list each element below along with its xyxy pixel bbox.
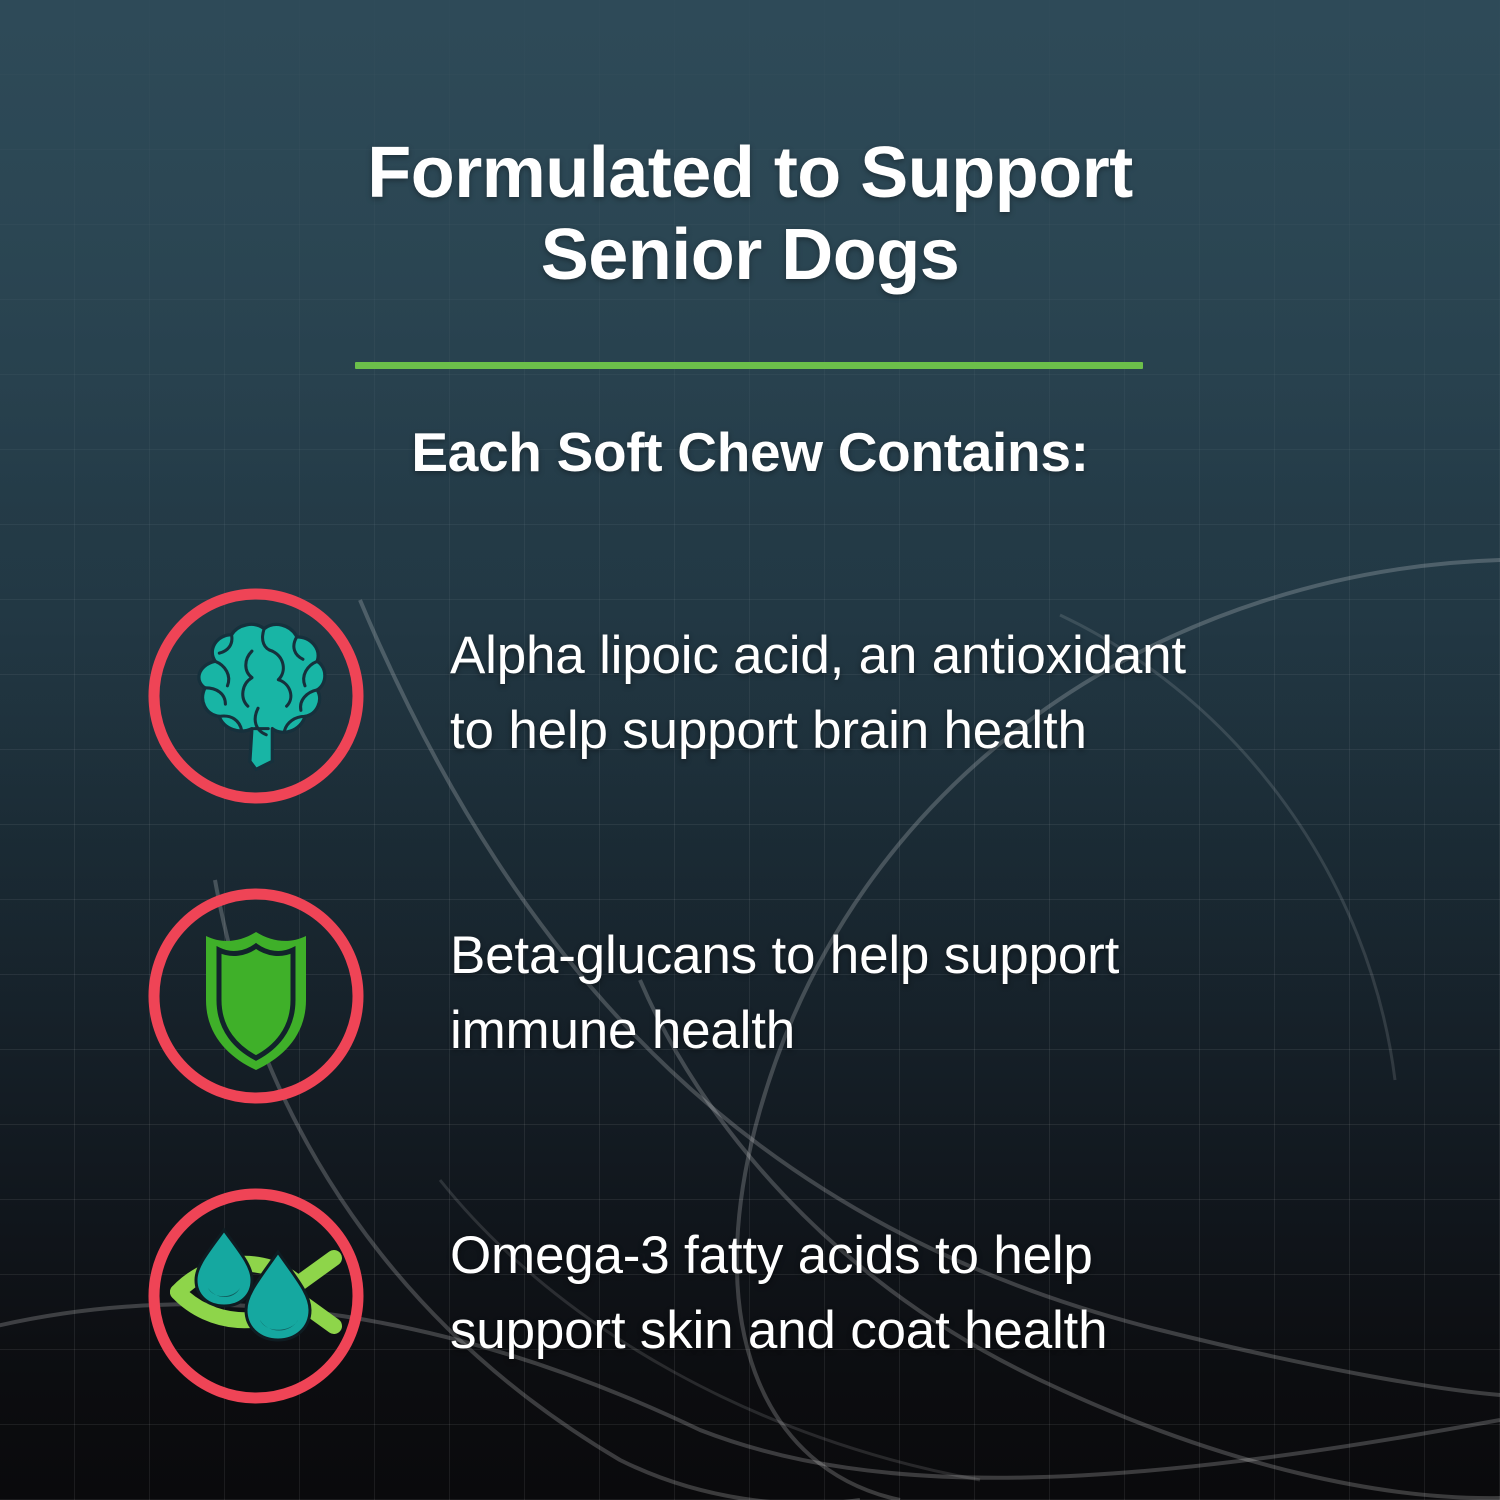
benefit-text-brain: Alpha lipoic acid, an antioxidant to hel… (450, 618, 1350, 769)
page-subtitle: Each Soft Chew Contains: (0, 420, 1500, 484)
fish-omega-icon (148, 1188, 364, 1404)
shield-badge (148, 888, 364, 1104)
fish-omega-badge (148, 1188, 364, 1404)
infographic-poster: Formulated to Support Senior Dogs Each S… (0, 0, 1500, 1500)
benefit-row-brain: Alpha lipoic acid, an antioxidant to hel… (0, 580, 1500, 880)
benefit-row-omega: Omega-3 fatty acids to help support skin… (0, 1180, 1500, 1480)
benefit-row-shield: Beta-glucans to help support immune heal… (0, 880, 1500, 1180)
green-divider (355, 362, 1143, 369)
benefits-list: Alpha lipoic acid, an antioxidant to hel… (0, 580, 1500, 1480)
shield-icon (148, 888, 364, 1104)
brain-badge (148, 588, 364, 804)
benefit-text-omega: Omega-3 fatty acids to help support skin… (450, 1218, 1350, 1369)
page-title: Formulated to Support Senior Dogs (0, 132, 1500, 296)
brain-icon (148, 588, 364, 804)
benefit-text-shield: Beta-glucans to help support immune heal… (450, 918, 1350, 1069)
